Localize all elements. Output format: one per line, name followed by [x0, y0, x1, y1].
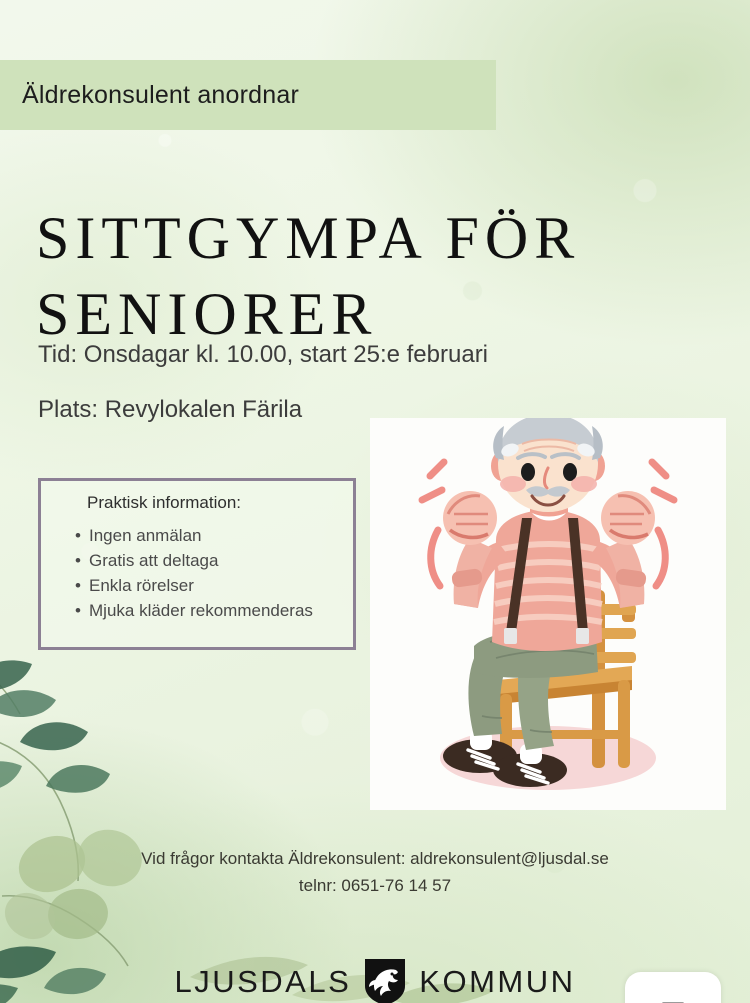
floating-overlay-card[interactable]: [625, 972, 721, 1003]
contact-email-line: Vid frågor kontakta Äldrekonsulent: aldr…: [0, 845, 750, 872]
logo-word-right: KOMMUN: [419, 964, 575, 1000]
eucalyptus-leaves-decoration-left: [0, 596, 210, 1003]
contact-phone-line: telnr: 0651-76 14 57: [0, 872, 750, 899]
page-title: SITTGYMPA FÖR SENIORER: [36, 200, 696, 352]
header-band-text: Äldrekonsulent anordnar: [22, 81, 299, 110]
header-band: Äldrekonsulent anordnar: [0, 60, 496, 130]
seated-senior-illustration: [370, 418, 726, 810]
list-item: Mjuka kläder rekommenderas: [89, 598, 313, 623]
poster-canvas: Äldrekonsulent anordnar SITTGYMPA FÖR SE…: [0, 0, 750, 1003]
practical-info-heading: Praktisk information:: [87, 493, 241, 513]
contact-info: Vid frågor kontakta Äldrekonsulent: aldr…: [0, 845, 750, 899]
detail-time: Tid: Onsdagar kl. 10.00, start 25:e febr…: [38, 341, 488, 369]
practical-info-list: Ingen anmälan Gratis att deltaga Enkla r…: [71, 523, 313, 623]
list-item: Gratis att deltaga: [89, 548, 313, 573]
detail-place: Plats: Revylokalen Färila: [38, 396, 302, 424]
list-item: Enkla rörelser: [89, 573, 313, 598]
list-item: Ingen anmälan: [89, 523, 313, 548]
ljusdal-coat-of-arms-icon: [363, 958, 407, 1003]
logo-word-left: LJUSDALS: [174, 964, 351, 1000]
practical-info-box: Praktisk information: Ingen anmälan Grat…: [38, 478, 356, 650]
